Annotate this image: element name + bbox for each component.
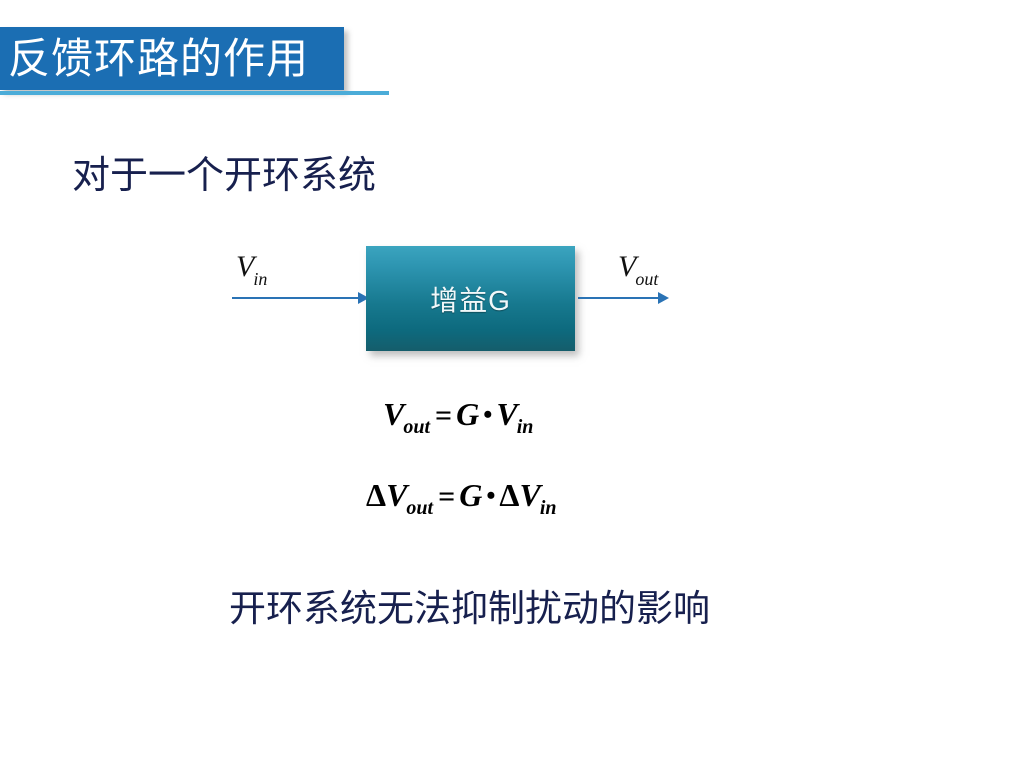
input-voltage-subscript: in: [253, 269, 267, 289]
input-signal-arrow-head: [358, 292, 369, 304]
input-voltage-label: Vin: [236, 250, 268, 285]
gain-block: 增益G: [366, 246, 575, 351]
input-signal-arrow-line: [232, 297, 362, 299]
delta-gain-equation-lhs-delta: Δ: [366, 477, 386, 513]
delta-gain-equation-dot-operator: •: [482, 481, 499, 510]
delta-gain-equation: ΔVout=G•ΔVin: [366, 477, 558, 514]
open-loop-block-diagram: Vin 增益G Vout: [0, 0, 1026, 767]
slide-title-banner: 反馈环路的作用: [0, 27, 344, 90]
delta-gain-equation-lhs-symbol: V: [386, 477, 407, 513]
delta-gain-equation-gain-symbol: G: [459, 477, 482, 513]
page-title: 反馈环路的作用: [8, 38, 309, 80]
gain-equation-lhs-subscript: out: [403, 416, 430, 438]
gain-equation-lhs-symbol: V: [383, 396, 404, 432]
input-voltage-symbol: V: [236, 250, 254, 283]
slide-canvas: 反馈环路的作用 对于一个开环系统 Vin 增益G Vout Vout=G•Vin…: [0, 0, 1026, 767]
output-voltage-subscript: out: [635, 269, 658, 289]
gain-equation-rhs-subscript: in: [517, 416, 534, 438]
output-voltage-symbol: V: [618, 250, 636, 283]
gain-equation-dot-operator: •: [479, 400, 496, 429]
delta-gain-equation-rhs-delta: Δ: [499, 477, 519, 513]
output-signal-arrow-line: [578, 297, 663, 299]
delta-gain-equation-lhs-subscript: out: [406, 497, 433, 519]
output-signal-arrow-head: [658, 292, 669, 304]
delta-gain-equation-equals: =: [434, 480, 459, 513]
output-voltage-label: Vout: [618, 250, 659, 285]
gain-block-label: 增益G: [430, 279, 511, 319]
gain-equation-gain-symbol: G: [456, 396, 479, 432]
gain-equation: Vout=G•Vin: [383, 396, 534, 433]
delta-gain-equation-rhs-symbol: V: [519, 477, 540, 513]
conclusion-text: 开环系统无法抑制扰动的影响: [229, 578, 710, 632]
title-underline-rule: [0, 91, 389, 95]
gain-equation-rhs-symbol: V: [496, 396, 517, 432]
delta-gain-equation-rhs-subscript: in: [540, 497, 557, 519]
gain-equation-equals: =: [431, 399, 456, 432]
subtitle-text: 对于一个开环系统: [72, 144, 376, 199]
